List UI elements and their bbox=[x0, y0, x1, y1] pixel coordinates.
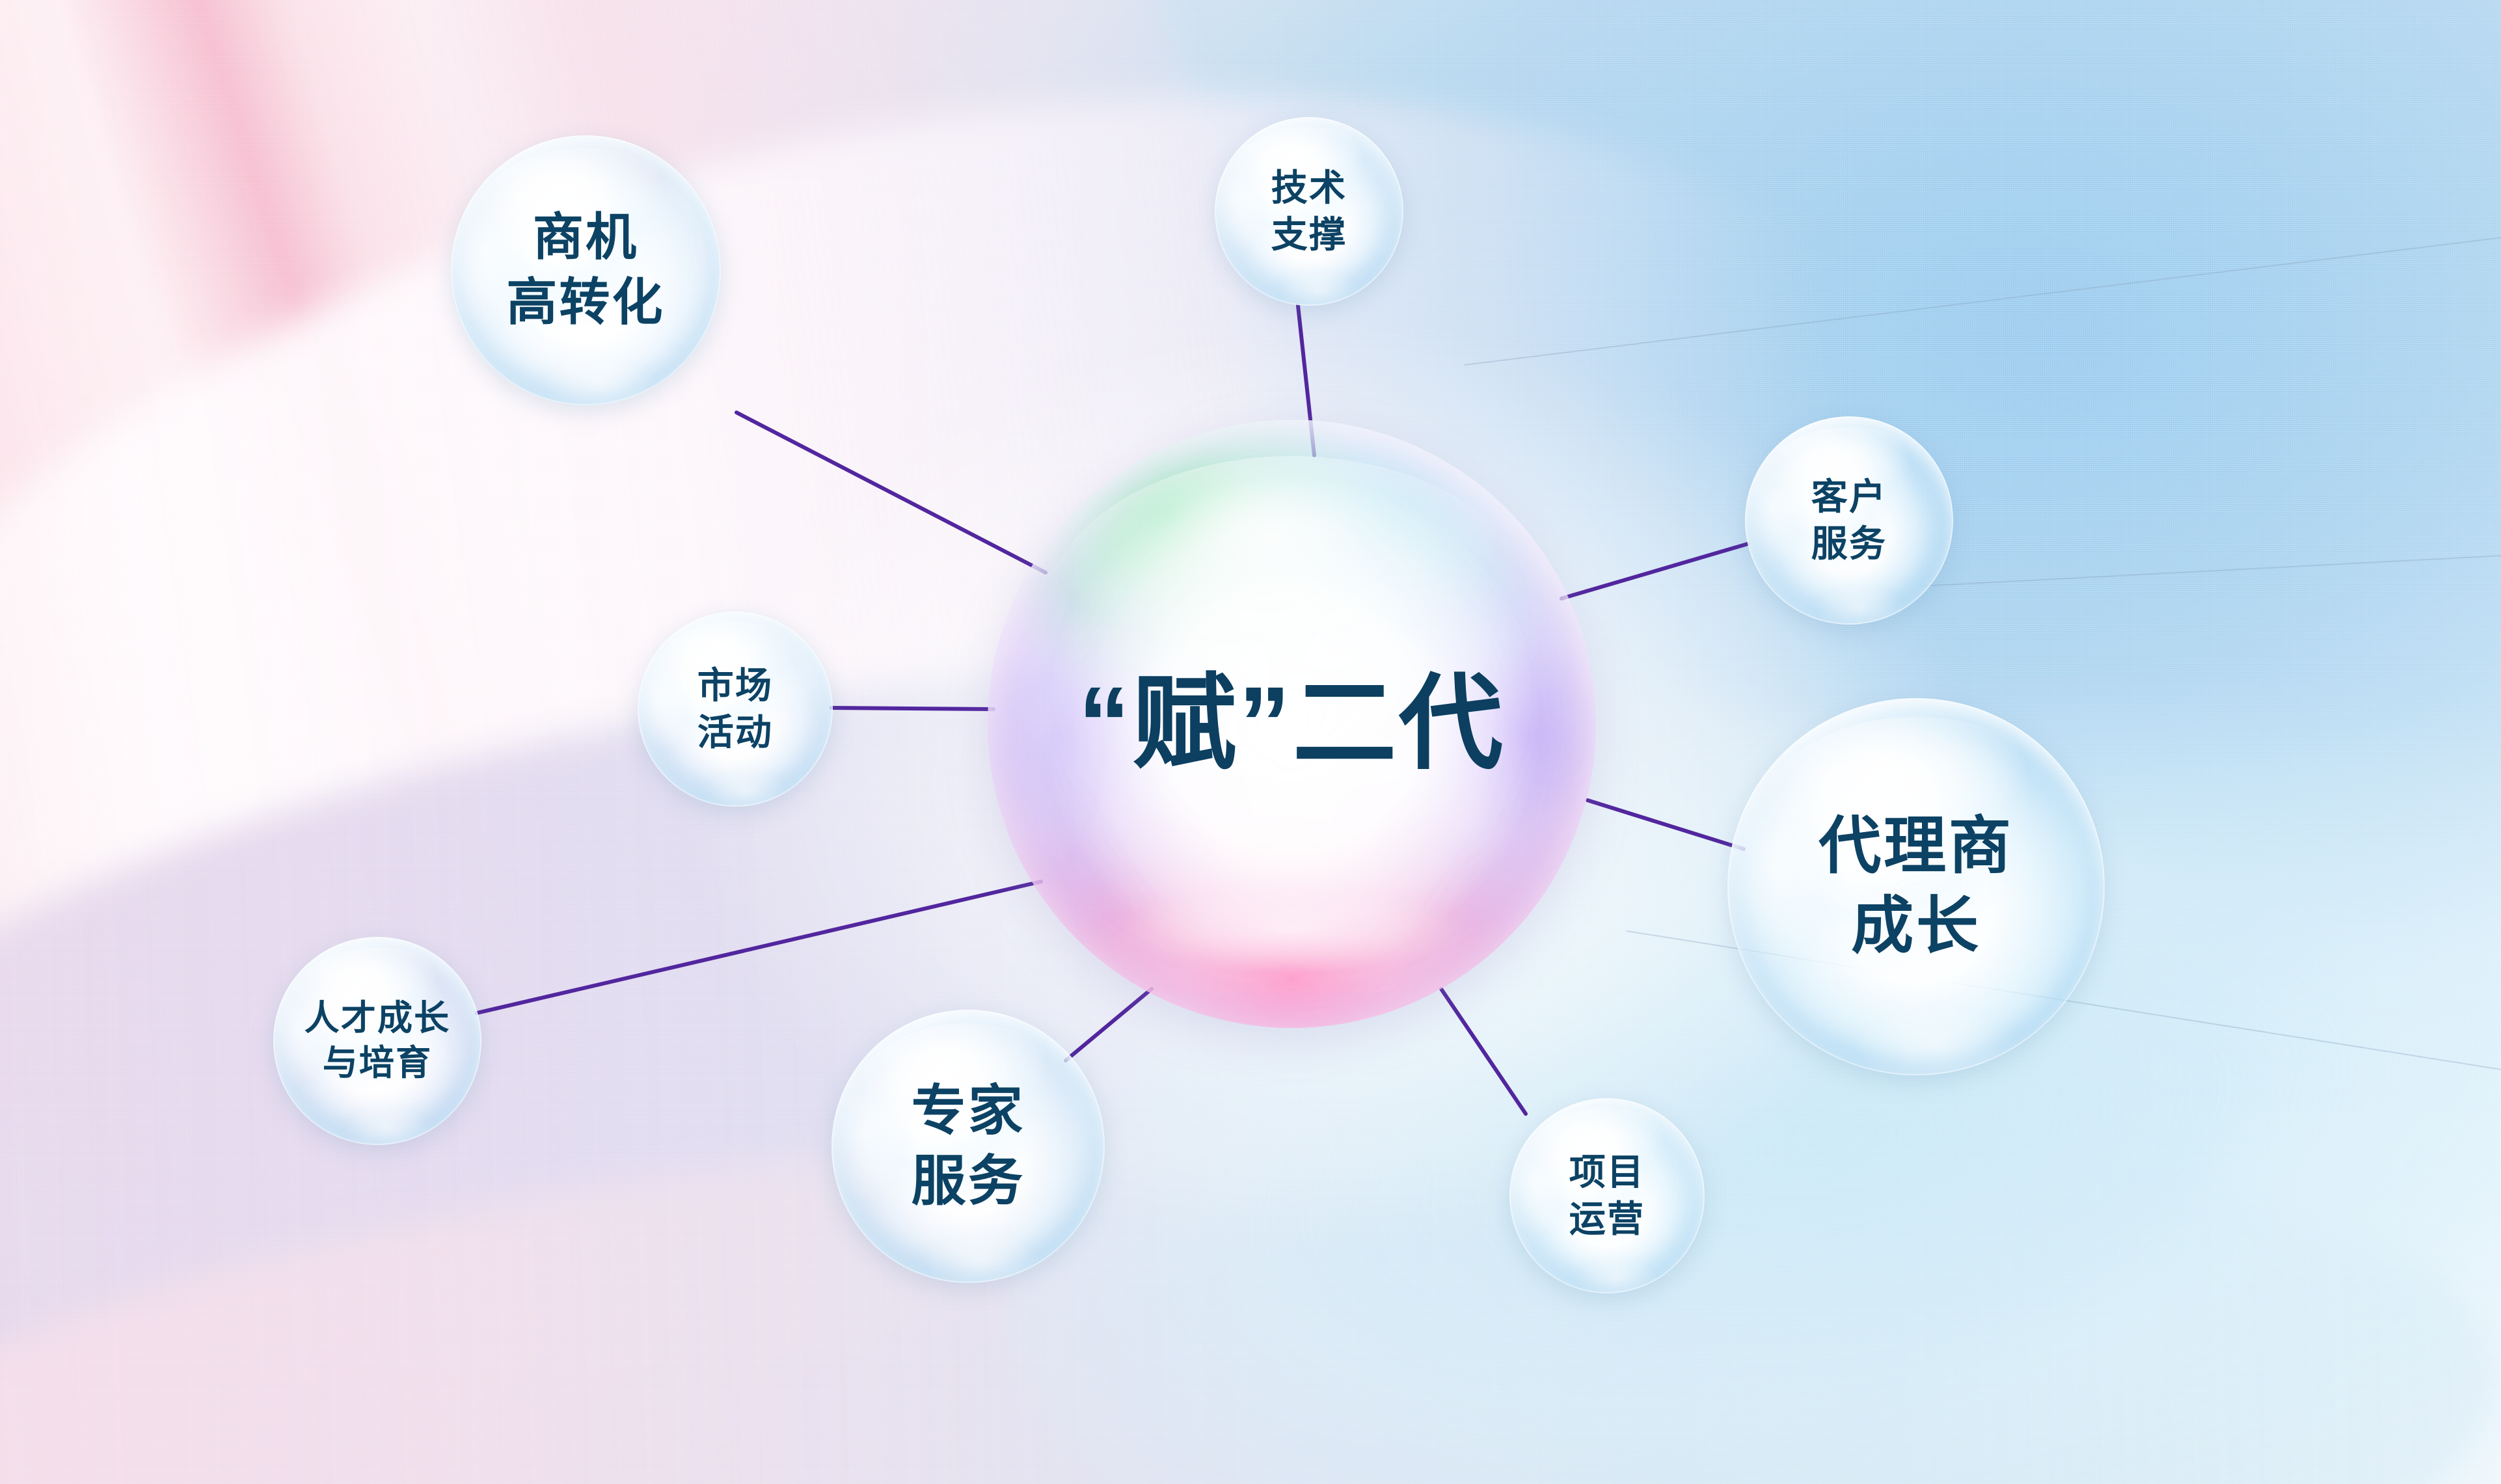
connector-project-operation bbox=[1441, 989, 1526, 1114]
connector-business-opp bbox=[737, 412, 1046, 573]
bubble-label-market-activity: 市场 活动 bbox=[697, 662, 773, 755]
bubble-label-project-operation: 项目 运营 bbox=[1569, 1149, 1645, 1242]
bubble-expert-service[interactable]: 专家 服务 bbox=[831, 1010, 1105, 1283]
bubble-customer-service[interactable]: 客户 服务 bbox=[1745, 416, 1953, 625]
bubble-label-core: “赋”二代 bbox=[1078, 671, 1505, 776]
bubble-market-activity[interactable]: 市场 活动 bbox=[638, 612, 833, 807]
connector-agent-growth bbox=[1588, 800, 1744, 849]
bubble-agent-growth[interactable]: 代理商 成长 bbox=[1727, 698, 2105, 1075]
diagram-canvas: 技术 支撑商机 高转化客户 服务市场 活动代理商 成长人才成长 与培育专家 服务… bbox=[0, 0, 2501, 1484]
bubble-label-business-opp: 商机 高转化 bbox=[506, 205, 664, 335]
connector-expert-service bbox=[1066, 989, 1152, 1060]
bubble-core[interactable]: “赋”二代 bbox=[988, 420, 1596, 1028]
bubble-label-agent-growth: 代理商 成长 bbox=[1818, 807, 2014, 967]
bubble-label-customer-service: 客户 服务 bbox=[1811, 474, 1887, 567]
bubble-label-expert-service: 专家 服务 bbox=[912, 1076, 1025, 1216]
bubble-business-opp[interactable]: 商机 高转化 bbox=[451, 135, 721, 405]
connector-talent-growth bbox=[477, 882, 1041, 1013]
bubble-talent-growth[interactable]: 人才成长 与培育 bbox=[273, 937, 481, 1145]
bubble-label-tech-support: 技术 支撑 bbox=[1271, 165, 1347, 258]
connector-market-activity bbox=[831, 708, 994, 709]
bubble-project-operation[interactable]: 项目 运营 bbox=[1509, 1098, 1705, 1293]
bubble-label-talent-growth: 人才成长 与培育 bbox=[304, 996, 451, 1086]
bubble-tech-support[interactable]: 技术 支撑 bbox=[1215, 117, 1403, 306]
connector-customer-service bbox=[1561, 544, 1748, 599]
